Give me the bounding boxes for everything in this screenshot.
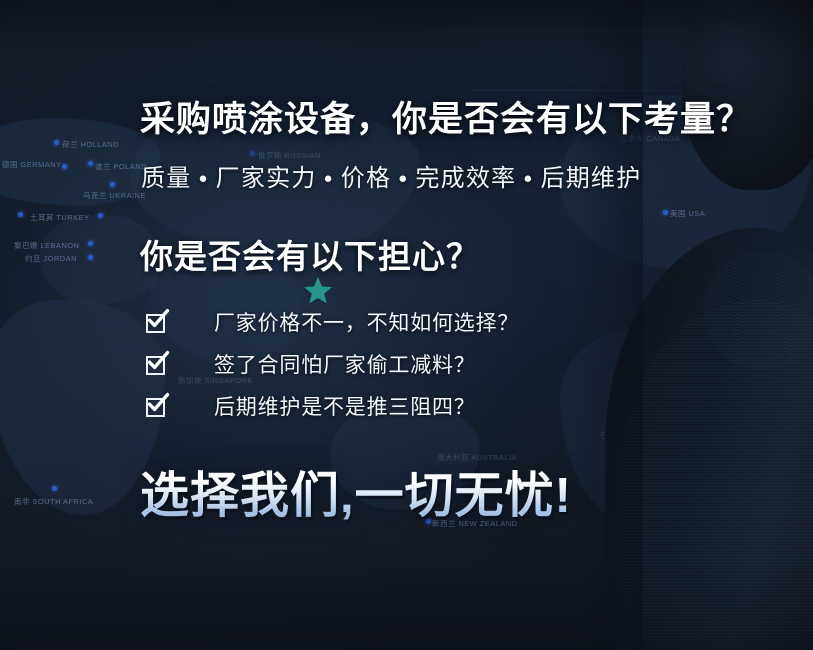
feature-item: 价格 (341, 165, 391, 192)
bullet-separator: ● (523, 170, 533, 187)
bullet-separator: ● (323, 170, 333, 187)
bullet-separator: ● (398, 170, 408, 187)
page-title: 采购喷涂设备，你是否会有以下考量？ (140, 91, 752, 142)
list-item: 厂家价格不一，不知如何选择？ (146, 301, 519, 343)
checkbox-checked-icon (146, 353, 170, 376)
list-item-label: 后期维护是不是推三阻四？ (214, 391, 476, 421)
secondary-title: 你是否会有以下担心？ (140, 230, 480, 278)
list-item: 后期维护是不是推三阻四？ (146, 385, 519, 427)
checkbox-checked-icon (146, 311, 170, 334)
slogan: 选择我们,一切无忧! (140, 456, 572, 527)
banner-content: 采购喷涂设备，你是否会有以下考量？ 质量●厂家实力●价格●完成效率●后期维护 你… (0, 0, 813, 650)
promo-banner: 荷兰 HOLLAND德国 GERMANY波兰 POLAND乌克兰 UKRAINE… (0, 0, 813, 650)
feature-item: 厂家实力 (216, 165, 317, 192)
list-item-label: 签了合同怕厂家偷工减料？ (214, 349, 476, 379)
bullet-separator: ● (198, 170, 208, 187)
concern-checklist: 厂家价格不一，不知如何选择？签了合同怕厂家偷工减料？后期维护是不是推三阻四？ (146, 301, 519, 427)
checkbox-checked-icon (146, 395, 170, 418)
list-item: 签了合同怕厂家偷工减料？ (146, 343, 519, 385)
feature-item: 完成效率 (415, 165, 516, 192)
feature-item: 后期维护 (541, 165, 642, 192)
feature-item: 质量 (141, 165, 191, 192)
list-item-label: 厂家价格不一，不知如何选择？ (214, 307, 519, 337)
feature-list: 质量●厂家实力●价格●完成效率●后期维护 (141, 158, 641, 193)
